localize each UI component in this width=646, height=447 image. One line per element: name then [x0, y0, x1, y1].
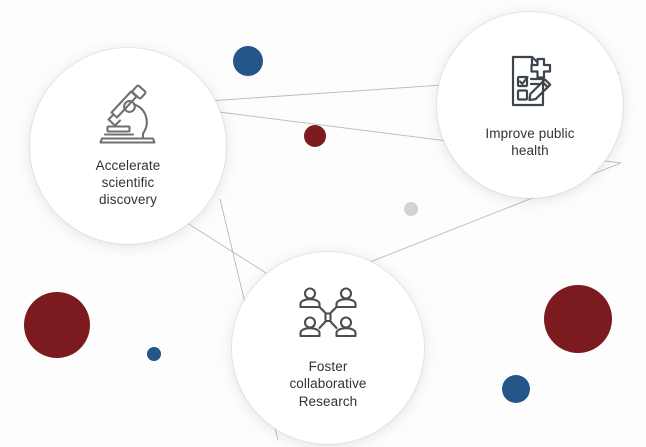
diagram-canvas: Accelerate scientific discovery Improve …	[0, 0, 646, 447]
node-label: Accelerate scientific discovery	[82, 157, 175, 209]
node-foster-collaborative-research[interactable]: Foster collaborative Research	[232, 252, 424, 444]
node-improve-public-health[interactable]: Improve public health	[437, 12, 623, 198]
node-label: Improve public health	[471, 125, 588, 160]
node-label: Foster collaborative Research	[275, 358, 380, 410]
dot-red-right	[544, 285, 612, 353]
microscope-icon	[93, 84, 163, 148]
dot-blue-bottom	[502, 375, 530, 403]
node-accelerate-scientific-discovery[interactable]: Accelerate scientific discovery	[30, 48, 226, 244]
people-network-icon	[297, 286, 359, 344]
connection-line	[184, 221, 266, 273]
medical-clipboard-pencil-icon	[499, 51, 561, 113]
dot-blue-small	[147, 347, 161, 361]
dot-grey-right	[404, 202, 418, 216]
dot-red-center	[304, 125, 326, 147]
dot-red-left	[24, 292, 90, 358]
dot-blue-top	[233, 46, 263, 76]
